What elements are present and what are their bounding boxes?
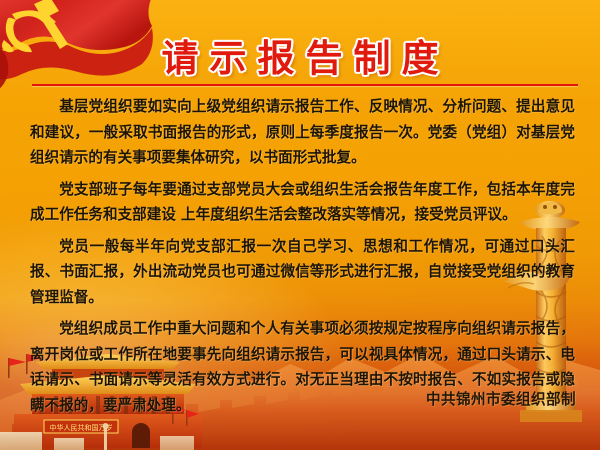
title-divider xyxy=(32,84,578,86)
body-text-block: 基层党组织要如实向上级党组织请示报告工作、反映情况、分析问题、提出意见和建议，一… xyxy=(30,94,575,424)
poster-root: 中华人民共和国万岁 xyxy=(0,0,600,450)
paragraph: 党支部班子每年要通过支部党员大会或组织生活会报告年度工作，包括本年度完成工作任务… xyxy=(30,177,575,228)
issuer-signature: 中共锦州市委组织部制 xyxy=(426,388,576,409)
paragraph: 党员一般每半年向党支部汇报一次自己学习、思想和工作情况，可通过口头汇报、书面汇报… xyxy=(30,234,575,311)
page-title: 请示报告制度 xyxy=(0,28,600,82)
paragraph: 基层党组织要如实向上级党组织请示报告工作、反映情况、分析问题、提出意见和建议，一… xyxy=(30,94,575,171)
poster-content: 请示报告制度 基层党组织要如实向上级党组织请示报告工作、反映情况、分析问题、提出… xyxy=(0,0,600,450)
